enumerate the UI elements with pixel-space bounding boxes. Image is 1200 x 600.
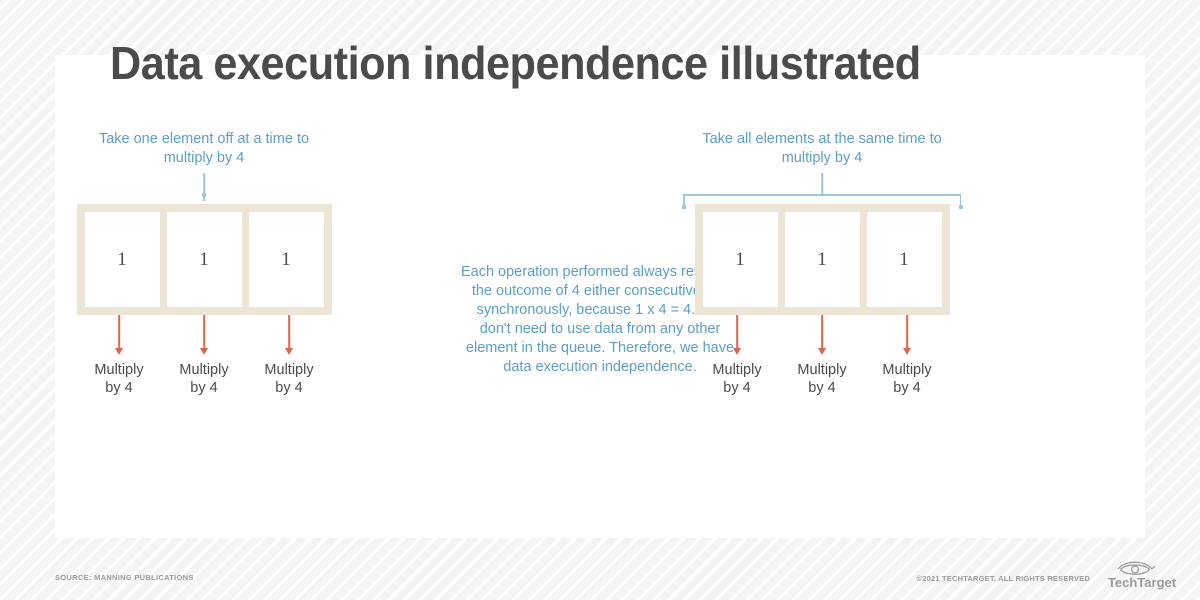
output-item: Multiply by 4: [162, 315, 247, 397]
output-item: Multiply by 4: [865, 315, 950, 397]
queue-cell: 1: [785, 212, 860, 307]
queue-cell: 1: [167, 212, 242, 307]
output-item: Multiply by 4: [780, 315, 865, 397]
left-panel-caption: Take one element off at a time to multip…: [74, 130, 334, 168]
right-outputs: Multiply by 4 Multiply by 4 Multiply by …: [695, 315, 950, 397]
down-arrow-icon: [902, 315, 912, 357]
connector-stem-head-icon: [202, 193, 206, 197]
output-label: Multiply by 4: [712, 361, 761, 397]
output-label: Multiply by 4: [882, 361, 931, 397]
footer-source: SOURCE: MANNING PUBLICATIONS: [55, 573, 194, 582]
down-arrow-icon: [199, 315, 209, 357]
connector-fork-head-left-icon: [682, 205, 686, 209]
connector-stem-line: [821, 173, 823, 195]
left-queue: 1 1 1: [77, 204, 332, 315]
right-connector-fork: [672, 168, 972, 204]
right-queue: 1 1 1: [695, 204, 950, 315]
output-item: Multiply by 4: [247, 315, 332, 397]
down-arrow-icon: [817, 315, 827, 357]
output-label: Multiply by 4: [264, 361, 313, 397]
techtarget-wordmark: TechTarget: [1108, 575, 1177, 590]
right-panel-caption: Take all elements at the same time to mu…: [692, 130, 952, 168]
techtarget-logo: TechTarget: [1096, 556, 1188, 594]
left-connector-single-stem: [54, 168, 354, 204]
queue-cell: 1: [85, 212, 160, 307]
queue-cell: 1: [867, 212, 942, 307]
output-item: Multiply by 4: [77, 315, 162, 397]
output-label: Multiply by 4: [94, 361, 143, 397]
connector-fork-head-right-icon: [959, 205, 963, 209]
left-outputs: Multiply by 4 Multiply by 4 Multiply by …: [77, 315, 332, 397]
right-panel: Take all elements at the same time to mu…: [672, 130, 972, 397]
connector-fork-bar: [683, 194, 961, 196]
left-panel: Take one element off at a time to multip…: [54, 130, 354, 397]
output-item: Multiply by 4: [695, 315, 780, 397]
queue-cell: 1: [249, 212, 324, 307]
output-label: Multiply by 4: [797, 361, 846, 397]
down-arrow-icon: [114, 315, 124, 357]
queue-cell: 1: [703, 212, 778, 307]
footer-rights: ©2021 TECHTARGET. ALL RIGHTS RESERVED: [916, 574, 1090, 583]
page-title: Data execution independence illustrated: [110, 36, 921, 90]
eye-icon: [1118, 562, 1155, 574]
down-arrow-icon: [284, 315, 294, 357]
output-label: Multiply by 4: [179, 361, 228, 397]
down-arrow-icon: [732, 315, 742, 357]
